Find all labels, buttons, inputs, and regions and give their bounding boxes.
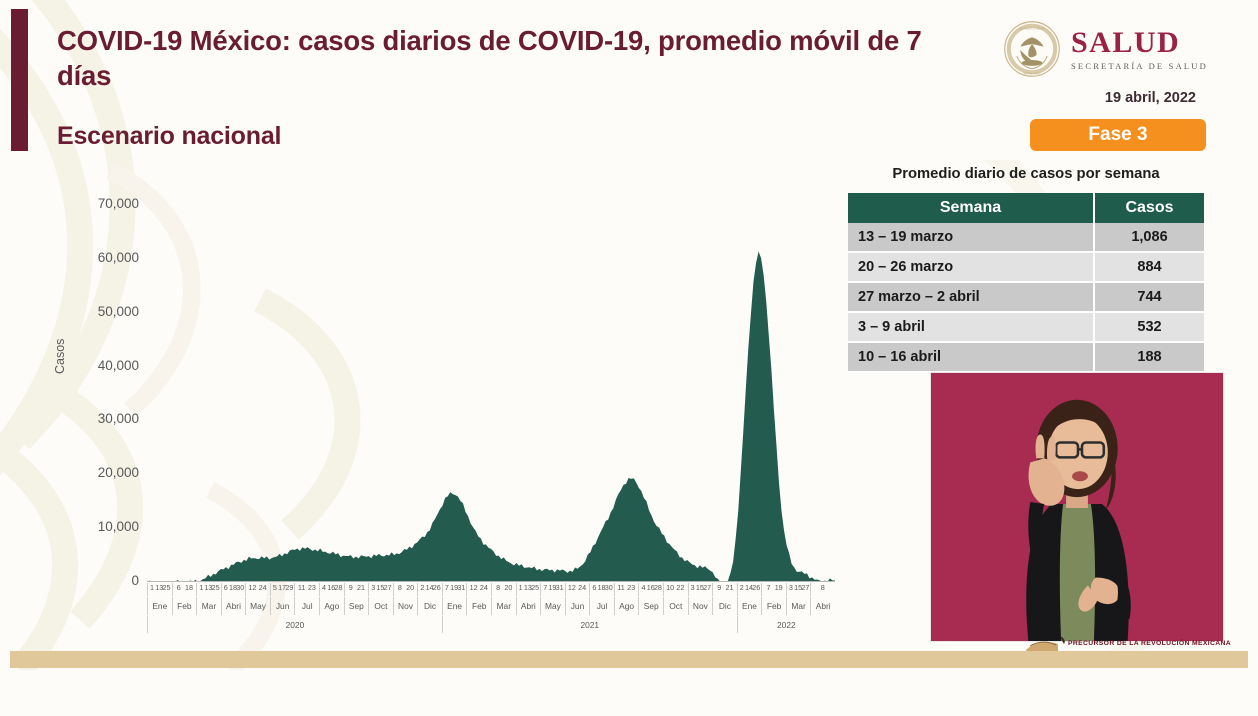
brand-text: SALUD SECRETARÍA DE SALUD [1071, 28, 1208, 71]
x-axis-labels: 1132561811325618301224517291123416289213… [147, 582, 835, 634]
x-axis-day-tick: 8 [821, 583, 825, 592]
x-axis-day-tick: 11 [298, 583, 305, 592]
x-axis-month-label: Abri [516, 597, 541, 615]
y-axis-tick-label: 70,000 [51, 196, 139, 211]
y-axis-tick-label: 60,000 [51, 250, 139, 265]
x-axis-month-label: Jul [589, 597, 614, 615]
svg-text:MEXICANOS: MEXICANOS [1023, 72, 1041, 76]
x-axis-month-label: May [540, 597, 565, 615]
cell-casos: 884 [1094, 252, 1204, 282]
chart-plot-area [147, 178, 835, 582]
x-axis-gridline [810, 583, 811, 596]
x-axis-month-labels: EneFebMarAbriMayJunJulAgoSepOctNovDicEne… [147, 597, 835, 615]
column-header-semana: Semana [848, 193, 1094, 223]
x-axis-day-tick: 7 [766, 583, 770, 592]
x-axis-gridline [196, 583, 197, 596]
x-axis-year-labels: 202020212022 [147, 616, 835, 633]
x-axis-day-tick: 8 [398, 583, 402, 592]
x-axis-month-label: Oct [663, 597, 688, 615]
left-accent-bar [11, 9, 28, 151]
x-axis-month-label: Ago [614, 597, 639, 615]
page-subtitle: Escenario nacional [57, 122, 281, 151]
x-axis-month-label: Ene [737, 597, 762, 615]
cell-semana: 20 – 26 marzo [848, 252, 1094, 282]
x-axis-day-tick: 22 [676, 583, 684, 592]
x-axis-gridline [688, 583, 689, 596]
report-date: 19 abril, 2022 [1105, 90, 1196, 106]
x-axis-month-label: Nov [688, 597, 713, 615]
x-axis-day-tick: 20 [406, 583, 414, 592]
x-axis-month-label: Nov [393, 597, 418, 615]
table-row: 10 – 16 abril188 [848, 342, 1204, 372]
x-axis-gridline [737, 583, 738, 596]
x-axis-gridline [614, 583, 615, 596]
x-axis-gridline [172, 583, 173, 596]
x-axis-month-label: Abri [810, 597, 835, 615]
y-axis-tick-label: 10,000 [51, 519, 139, 534]
cell-casos: 532 [1094, 312, 1204, 342]
x-axis-month-label: Dic [712, 597, 737, 615]
cell-semana: 10 – 16 abril [848, 342, 1094, 372]
x-axis-day-tick: 1 [150, 583, 154, 592]
y-axis-tick-label: 0 [51, 573, 139, 588]
x-axis-day-tick: 24 [578, 583, 586, 592]
y-axis-tick-label: 40,000 [51, 358, 139, 373]
x-axis-gridline [417, 583, 418, 596]
x-axis-month-label: Mar [786, 597, 811, 615]
x-axis-month-label: Ago [319, 597, 344, 615]
x-axis-gridline [221, 583, 222, 596]
brand-subtitle: SECRETARÍA DE SALUD [1071, 61, 1208, 71]
x-axis-gridline [712, 583, 713, 596]
x-axis-day-tick: 10 [666, 583, 674, 592]
x-axis-day-ticks: 1132561811325618301224517291123416289213… [147, 583, 835, 596]
x-axis-gridline [368, 583, 369, 596]
x-axis-gridline [516, 583, 517, 596]
interpreter-figure [931, 373, 1223, 641]
x-axis-gridline [442, 583, 443, 596]
table-row: 27 marzo – 2 abril744 [848, 282, 1204, 312]
x-axis-month-label: Sep [638, 597, 663, 615]
x-axis-day-tick: 29 [285, 583, 293, 592]
x-axis-gridline [663, 583, 664, 596]
x-axis-day-tick: 27 [384, 583, 392, 592]
cell-semana: 13 – 19 marzo [848, 223, 1094, 252]
cell-casos: 188 [1094, 342, 1204, 372]
x-axis-gridline [786, 583, 787, 596]
x-axis-day-tick: 3 [789, 583, 793, 592]
x-axis-day-tick: 9 [717, 583, 721, 592]
x-axis-day-tick: 4 [322, 583, 326, 592]
x-axis-day-tick: 3 [691, 583, 695, 592]
x-axis-day-tick: 24 [480, 583, 488, 592]
x-axis-month-label: Feb [466, 597, 491, 615]
x-axis-day-tick: 2 [740, 583, 744, 592]
x-axis-month-label: Feb [172, 597, 197, 615]
x-axis-day-tick: 25 [163, 583, 171, 592]
y-axis-tick-label: 20,000 [51, 465, 139, 480]
x-axis-day-tick: 20 [504, 583, 512, 592]
series-area-casos [147, 252, 835, 582]
x-axis-day-tick: 27 [801, 583, 809, 592]
mexico-coat-of-arms-icon: ESTADOS UNIDOS MEXICANOS [1003, 20, 1061, 78]
x-axis-day-tick: 23 [627, 583, 635, 592]
x-axis-gridline [344, 583, 345, 596]
x-axis-day-tick: 12 [470, 583, 478, 592]
x-axis-day-tick: 27 [703, 583, 711, 592]
x-axis-gridline [147, 583, 148, 596]
x-axis-day-tick: 6 [592, 583, 596, 592]
x-axis-gridline [638, 583, 639, 596]
x-axis-month-label: Jun [270, 597, 295, 615]
x-axis-month-label: Ene [442, 597, 467, 615]
x-axis-day-tick: 26 [433, 583, 441, 592]
cell-casos: 1,086 [1094, 223, 1204, 252]
x-axis-day-tick: 7 [445, 583, 449, 592]
x-axis-month-label: Mar [491, 597, 516, 615]
y-axis-tick-label: 30,000 [51, 411, 139, 426]
x-axis-day-tick: 4 [641, 583, 645, 592]
x-axis-day-tick: 28 [654, 583, 662, 592]
table-row: 3 – 9 abril532 [848, 312, 1204, 342]
x-axis-gridline [540, 583, 541, 596]
footer-strip [10, 651, 1248, 668]
x-axis-day-tick: 26 [752, 583, 760, 592]
slide-canvas: COVID-19 México: casos diarios de COVID-… [0, 0, 1258, 716]
x-axis-gridline [270, 583, 271, 596]
cell-semana: 3 – 9 abril [848, 312, 1094, 342]
x-axis-day-tick: 5 [273, 583, 277, 592]
x-axis-gridline [491, 583, 492, 596]
x-axis-gridline [589, 583, 590, 596]
cell-casos: 744 [1094, 282, 1204, 312]
x-axis-gridline [393, 583, 394, 596]
x-axis-day-tick: 18 [185, 583, 193, 592]
x-axis-day-tick: 2 [420, 583, 424, 592]
x-axis-gridline [245, 583, 246, 596]
page-title: COVID-19 México: casos diarios de COVID-… [57, 24, 957, 94]
x-axis-day-tick: 21 [357, 583, 365, 592]
x-axis-day-tick: 1 [519, 583, 523, 592]
x-axis-day-tick: 12 [248, 583, 256, 592]
x-axis-day-tick: 8 [496, 583, 500, 592]
x-axis-month-label: Dic [417, 597, 442, 615]
x-axis-month-label: Feb [761, 597, 786, 615]
column-header-casos: Casos [1094, 193, 1204, 223]
table-caption: Promedio diario de casos por semana [848, 166, 1204, 182]
x-axis-day-tick: 25 [531, 583, 539, 592]
brand-title: SALUD [1071, 28, 1180, 58]
x-axis-day-tick: 25 [212, 583, 220, 592]
x-axis-gridline [761, 583, 762, 596]
weekly-average-cases-table: Semana Casos 13 – 19 marzo1,08620 – 26 m… [848, 193, 1204, 373]
x-axis-month-label: May [245, 597, 270, 615]
x-axis-day-tick: 23 [308, 583, 316, 592]
brand-block: ESTADOS UNIDOS MEXICANOS SALUD SECRETARÍ… [1003, 20, 1208, 78]
x-axis-month-label: Jun [565, 597, 590, 615]
x-axis-year-label: 2021 [442, 616, 737, 633]
cases-area-chart: Casos 010,00020,00030,00040,00050,00060,… [57, 178, 847, 638]
table-row: 13 – 19 marzo1,086 [848, 223, 1204, 252]
x-axis-month-label: Ene [147, 597, 172, 615]
x-axis-month-label: Oct [368, 597, 393, 615]
table-header-row: Semana Casos [848, 193, 1204, 223]
y-axis-tick-label: 50,000 [51, 304, 139, 319]
x-axis-month-label: Sep [344, 597, 369, 615]
cell-semana: 27 marzo – 2 abril [848, 282, 1094, 312]
svg-text:ESTADOS UNIDOS: ESTADOS UNIDOS [1020, 26, 1045, 30]
x-axis-day-tick: 6 [224, 583, 228, 592]
x-axis-month-label: Jul [294, 597, 319, 615]
x-axis-day-tick: 11 [617, 583, 624, 592]
x-axis-day-tick: 9 [349, 583, 353, 592]
x-axis-day-tick: 1 [199, 583, 203, 592]
table-row: 20 – 26 marzo884 [848, 252, 1204, 282]
x-axis-day-tick: 31 [457, 583, 465, 592]
x-axis-month-label: Mar [196, 597, 221, 615]
x-axis-year-label: 2020 [147, 616, 442, 633]
footer-note: PRECURSOR DE LA REVOLUCIÓN MEXICANA [1068, 640, 1231, 647]
x-axis-year-label: 2022 [737, 616, 835, 633]
x-axis-day-tick: 7 [543, 583, 547, 592]
x-axis-day-tick: 21 [726, 583, 734, 592]
x-axis-day-tick: 24 [259, 583, 267, 592]
sign-language-interpreter-video[interactable] [930, 372, 1224, 642]
x-axis-day-tick: 3 [371, 583, 375, 592]
x-axis-gridline [294, 583, 295, 596]
x-axis-day-tick: 30 [605, 583, 613, 592]
x-axis-gridline [466, 583, 467, 596]
x-axis-month-label: Abri [221, 597, 246, 615]
status-badge-phase: Fase 3 [1030, 119, 1206, 151]
x-axis-day-tick: 30 [236, 583, 244, 592]
x-axis-day-tick: 28 [335, 583, 343, 592]
x-axis-gridline [319, 583, 320, 596]
x-axis-gridline [565, 583, 566, 596]
x-axis-day-tick: 12 [568, 583, 576, 592]
x-axis-day-tick: 19 [775, 583, 783, 592]
x-axis-day-tick: 31 [556, 583, 564, 592]
x-axis-day-tick: 6 [177, 583, 181, 592]
